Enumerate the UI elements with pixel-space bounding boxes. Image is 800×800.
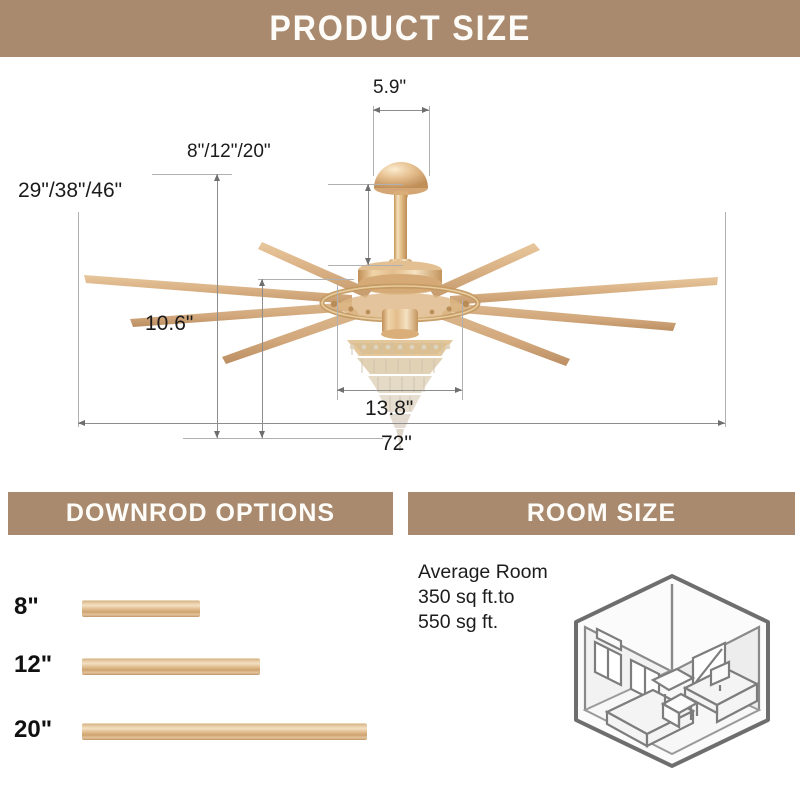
dim-light-width <box>337 390 462 391</box>
downrod-options-title: DOWNROD OPTIONS <box>66 499 335 528</box>
arrow-lightw-left <box>337 387 344 393</box>
room-size-title: ROOM SIZE <box>527 499 676 528</box>
ext-overall-top <box>152 174 232 175</box>
label-light-height: 10.6" <box>145 312 193 336</box>
arrow-canopy-left <box>373 107 380 113</box>
ext-canopy-right <box>429 106 430 176</box>
arrow-lightw-right <box>455 387 462 393</box>
ext-span-right <box>725 212 726 427</box>
arrow-downrod-bottom <box>365 258 371 265</box>
arrow-downrod-top <box>365 184 371 191</box>
downrod-label-0: 8" <box>14 593 39 621</box>
arrow-span-right <box>718 420 725 426</box>
label-blade-span: 72" <box>381 432 412 456</box>
ext-downrod-bottom <box>328 265 403 266</box>
downrod-bar-0 <box>82 600 200 617</box>
crystal-light-shade <box>347 340 453 445</box>
isometric-room-icon <box>565 570 780 770</box>
room-size-banner: ROOM SIZE <box>408 492 795 535</box>
dim-light-height <box>262 279 263 438</box>
dim-canopy-width <box>373 110 429 111</box>
downrod-bar-1 <box>82 658 260 675</box>
room-text-line-2: 550 sg ft. <box>418 610 548 635</box>
ext-lightw-left <box>337 285 338 400</box>
ext-canopy-left <box>373 106 374 176</box>
label-light-width: 13.8" <box>365 397 413 421</box>
downrod-label-1: 12" <box>14 651 52 679</box>
page-title: PRODUCT SIZE <box>269 9 531 49</box>
label-downrod-height: 8"/12"/20" <box>187 141 271 163</box>
dim-overall-height <box>217 174 218 438</box>
room-size-text: Average Room 350 sq ft.to 550 sg ft. <box>418 560 548 635</box>
label-canopy-width: 5.9" <box>373 77 406 99</box>
downrod-label-2: 20" <box>14 716 52 744</box>
ext-lightw-right <box>462 300 463 400</box>
downrod <box>394 195 407 265</box>
arrow-overall-top <box>214 174 220 181</box>
downrod-options-banner: DOWNROD OPTIONS <box>8 492 393 535</box>
arrow-overall-bottom <box>214 431 220 438</box>
dim-downrod-height <box>368 184 369 265</box>
page-title-banner: PRODUCT SIZE <box>0 0 800 57</box>
room-text-line-0: Average Room <box>418 560 548 585</box>
ext-light-baseline <box>183 438 383 439</box>
canopy <box>374 162 428 198</box>
downrod-bar-2 <box>82 723 367 740</box>
fan-dimension-diagram: 5.9" 8"/12"/20" 29"/38"/46" 10.6" 13.8" <box>0 57 800 482</box>
arrow-light-bottom <box>259 431 265 438</box>
ext-span-left <box>78 212 79 427</box>
room-text-line-1: 350 sq ft.to <box>418 585 548 610</box>
arrow-canopy-right <box>422 107 429 113</box>
arrow-light-top <box>259 279 265 286</box>
arrow-span-left <box>78 420 85 426</box>
dim-blade-span <box>78 423 725 424</box>
label-overall-height: 29"/38"/46" <box>18 179 122 203</box>
ext-light-top <box>258 279 354 280</box>
product-size-infographic: PRODUCT SIZE <box>0 0 800 800</box>
